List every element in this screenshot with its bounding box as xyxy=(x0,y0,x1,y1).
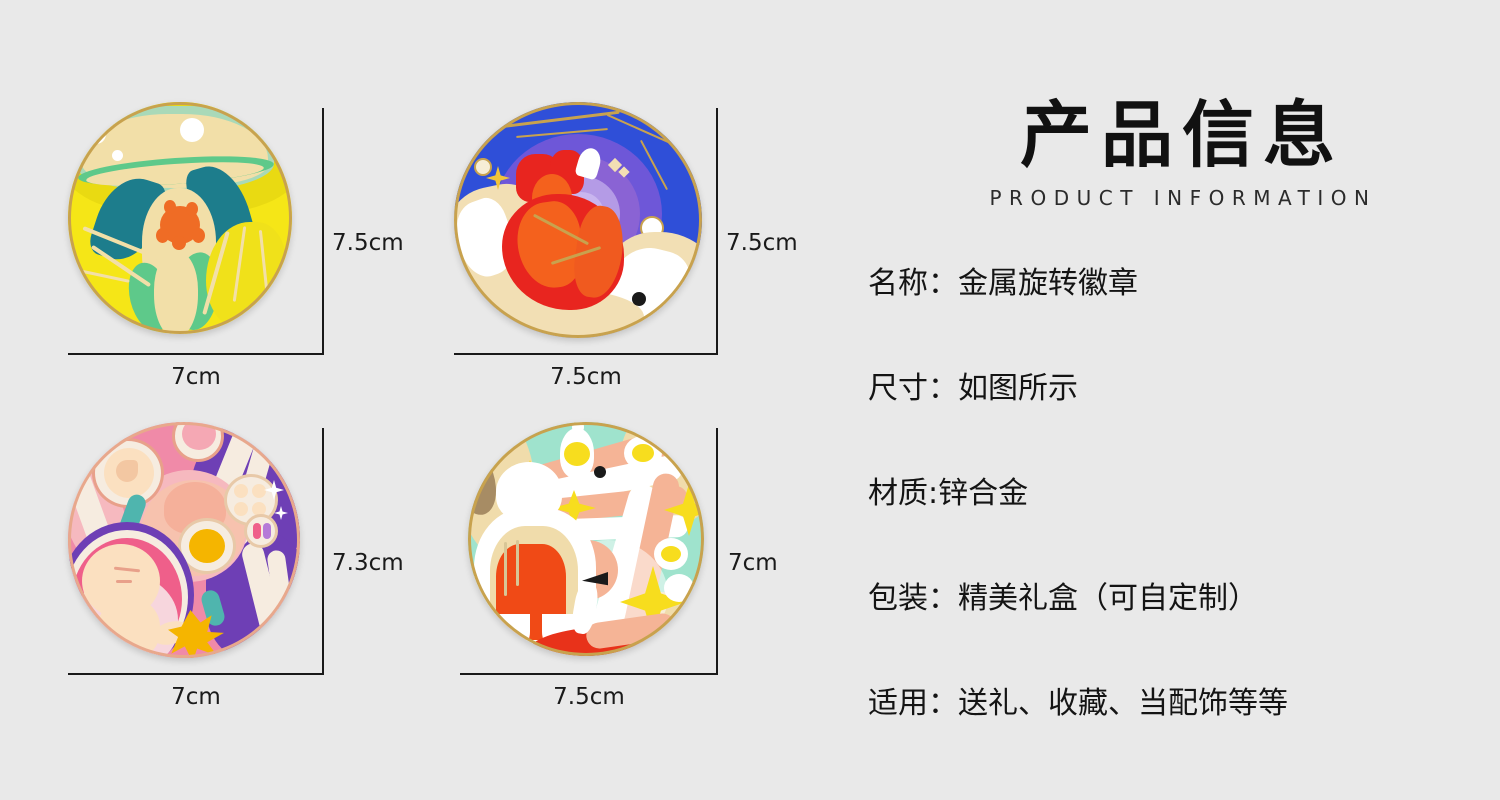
dimension-height-label: 7.5cm xyxy=(726,230,798,256)
page-subtitle: PRODUCT INFORMATION xyxy=(888,186,1478,210)
spec-row-size: 尺寸：如图所示 xyxy=(868,363,1478,415)
dimension-bracket-vertical xyxy=(716,428,718,674)
embryology-pin-image[interactable] xyxy=(68,422,308,662)
dimension-bracket-horizontal xyxy=(460,673,718,675)
gallery-item-embryo: 7.3cm 7cm xyxy=(58,414,348,694)
dimension-width-label: 7cm xyxy=(68,684,324,710)
dimension-width-label: 7.5cm xyxy=(454,364,718,390)
dimension-bracket-vertical xyxy=(322,108,324,354)
dimension-width-label: 7cm xyxy=(68,364,324,390)
spec-row-name: 名称：金属旋转徽章 xyxy=(868,258,1478,310)
dimension-height-label: 7.5cm xyxy=(332,230,404,256)
gallery-item-tooth: 7cm 7.5cm xyxy=(444,414,744,694)
spec-row-usage: 适用：送礼、收藏、当配饰等等 xyxy=(868,678,1478,730)
dimension-bracket-horizontal xyxy=(68,673,324,675)
dimension-bracket-horizontal xyxy=(454,353,718,355)
dimension-bracket-vertical xyxy=(716,108,718,354)
dimension-width-label: 7.5cm xyxy=(460,684,718,710)
product-info-page: 7.5cm 7cm xyxy=(0,0,1500,800)
spec-row-material: 材质:锌合金 xyxy=(868,468,1478,520)
dental-anatomy-pin-image[interactable] xyxy=(468,422,718,662)
dimension-bracket-horizontal xyxy=(68,353,324,355)
spec-row-packaging: 包装：精美礼盒（可自定制） xyxy=(868,573,1478,625)
dimension-bracket-vertical xyxy=(322,428,324,674)
dimension-height-label: 7.3cm xyxy=(332,550,404,576)
spec-list: 名称：金属旋转徽章 尺寸：如图所示 材质:锌合金 包装：精美礼盒（可自定制） 适… xyxy=(868,258,1478,730)
gallery-item-botanical: 7.5cm 7cm xyxy=(58,94,348,374)
heart-cosmos-pin-image[interactable] xyxy=(454,102,704,342)
product-info-panel: 产品信息 PRODUCT INFORMATION 名称：金属旋转徽章 尺寸：如图… xyxy=(868,96,1478,730)
dimension-height-label: 7cm xyxy=(728,550,778,576)
botanical-pin-image[interactable] xyxy=(68,102,298,342)
gallery-item-heart: 7.5cm 7.5cm xyxy=(444,94,744,374)
page-title: 产品信息 xyxy=(886,96,1478,174)
